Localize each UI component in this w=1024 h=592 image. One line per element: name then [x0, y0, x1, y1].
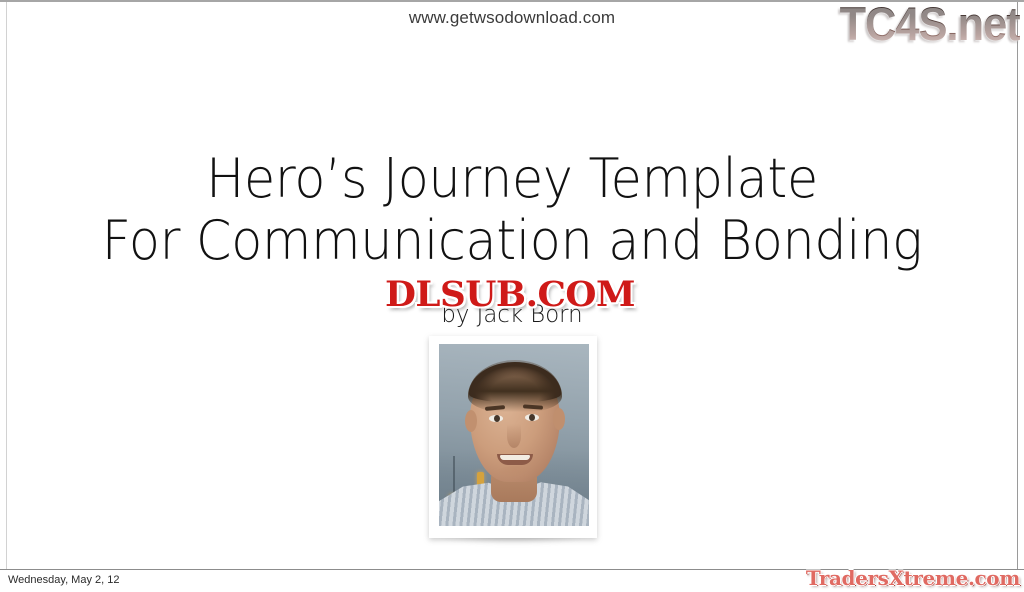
photo-chin — [494, 466, 536, 482]
dlsub-watermark: DLSUB.COM — [359, 276, 661, 314]
slide-border-right — [1017, 2, 1018, 570]
photo-pupil-right — [529, 414, 535, 421]
tradersxtreme-watermark: TradersXtreme.com — [806, 566, 1020, 590]
tc4s-watermark: TC4S.net — [840, 0, 1020, 50]
photo-frame — [429, 336, 597, 538]
title-line-1: Hero’s Journey Template — [31, 148, 994, 210]
photo-mouth — [497, 454, 533, 465]
title-line-2: For Communication and Bonding — [31, 210, 994, 272]
photo-ear-left — [465, 410, 477, 432]
slide-border-left — [6, 2, 7, 570]
footer-date: Wednesday, May 2, 12 — [8, 574, 120, 586]
photo-nose — [507, 424, 521, 448]
photo-ear-right — [553, 408, 565, 430]
slide-title: Hero’s Journey Template For Communicatio… — [0, 148, 1024, 272]
photo-teeth — [500, 455, 530, 460]
presentation-slide: www.getwsodownload.com TC4S.net TC4S.net… — [0, 0, 1024, 592]
photo-image — [439, 344, 589, 526]
author-photo — [429, 336, 597, 538]
photo-pupil-left — [494, 415, 500, 422]
